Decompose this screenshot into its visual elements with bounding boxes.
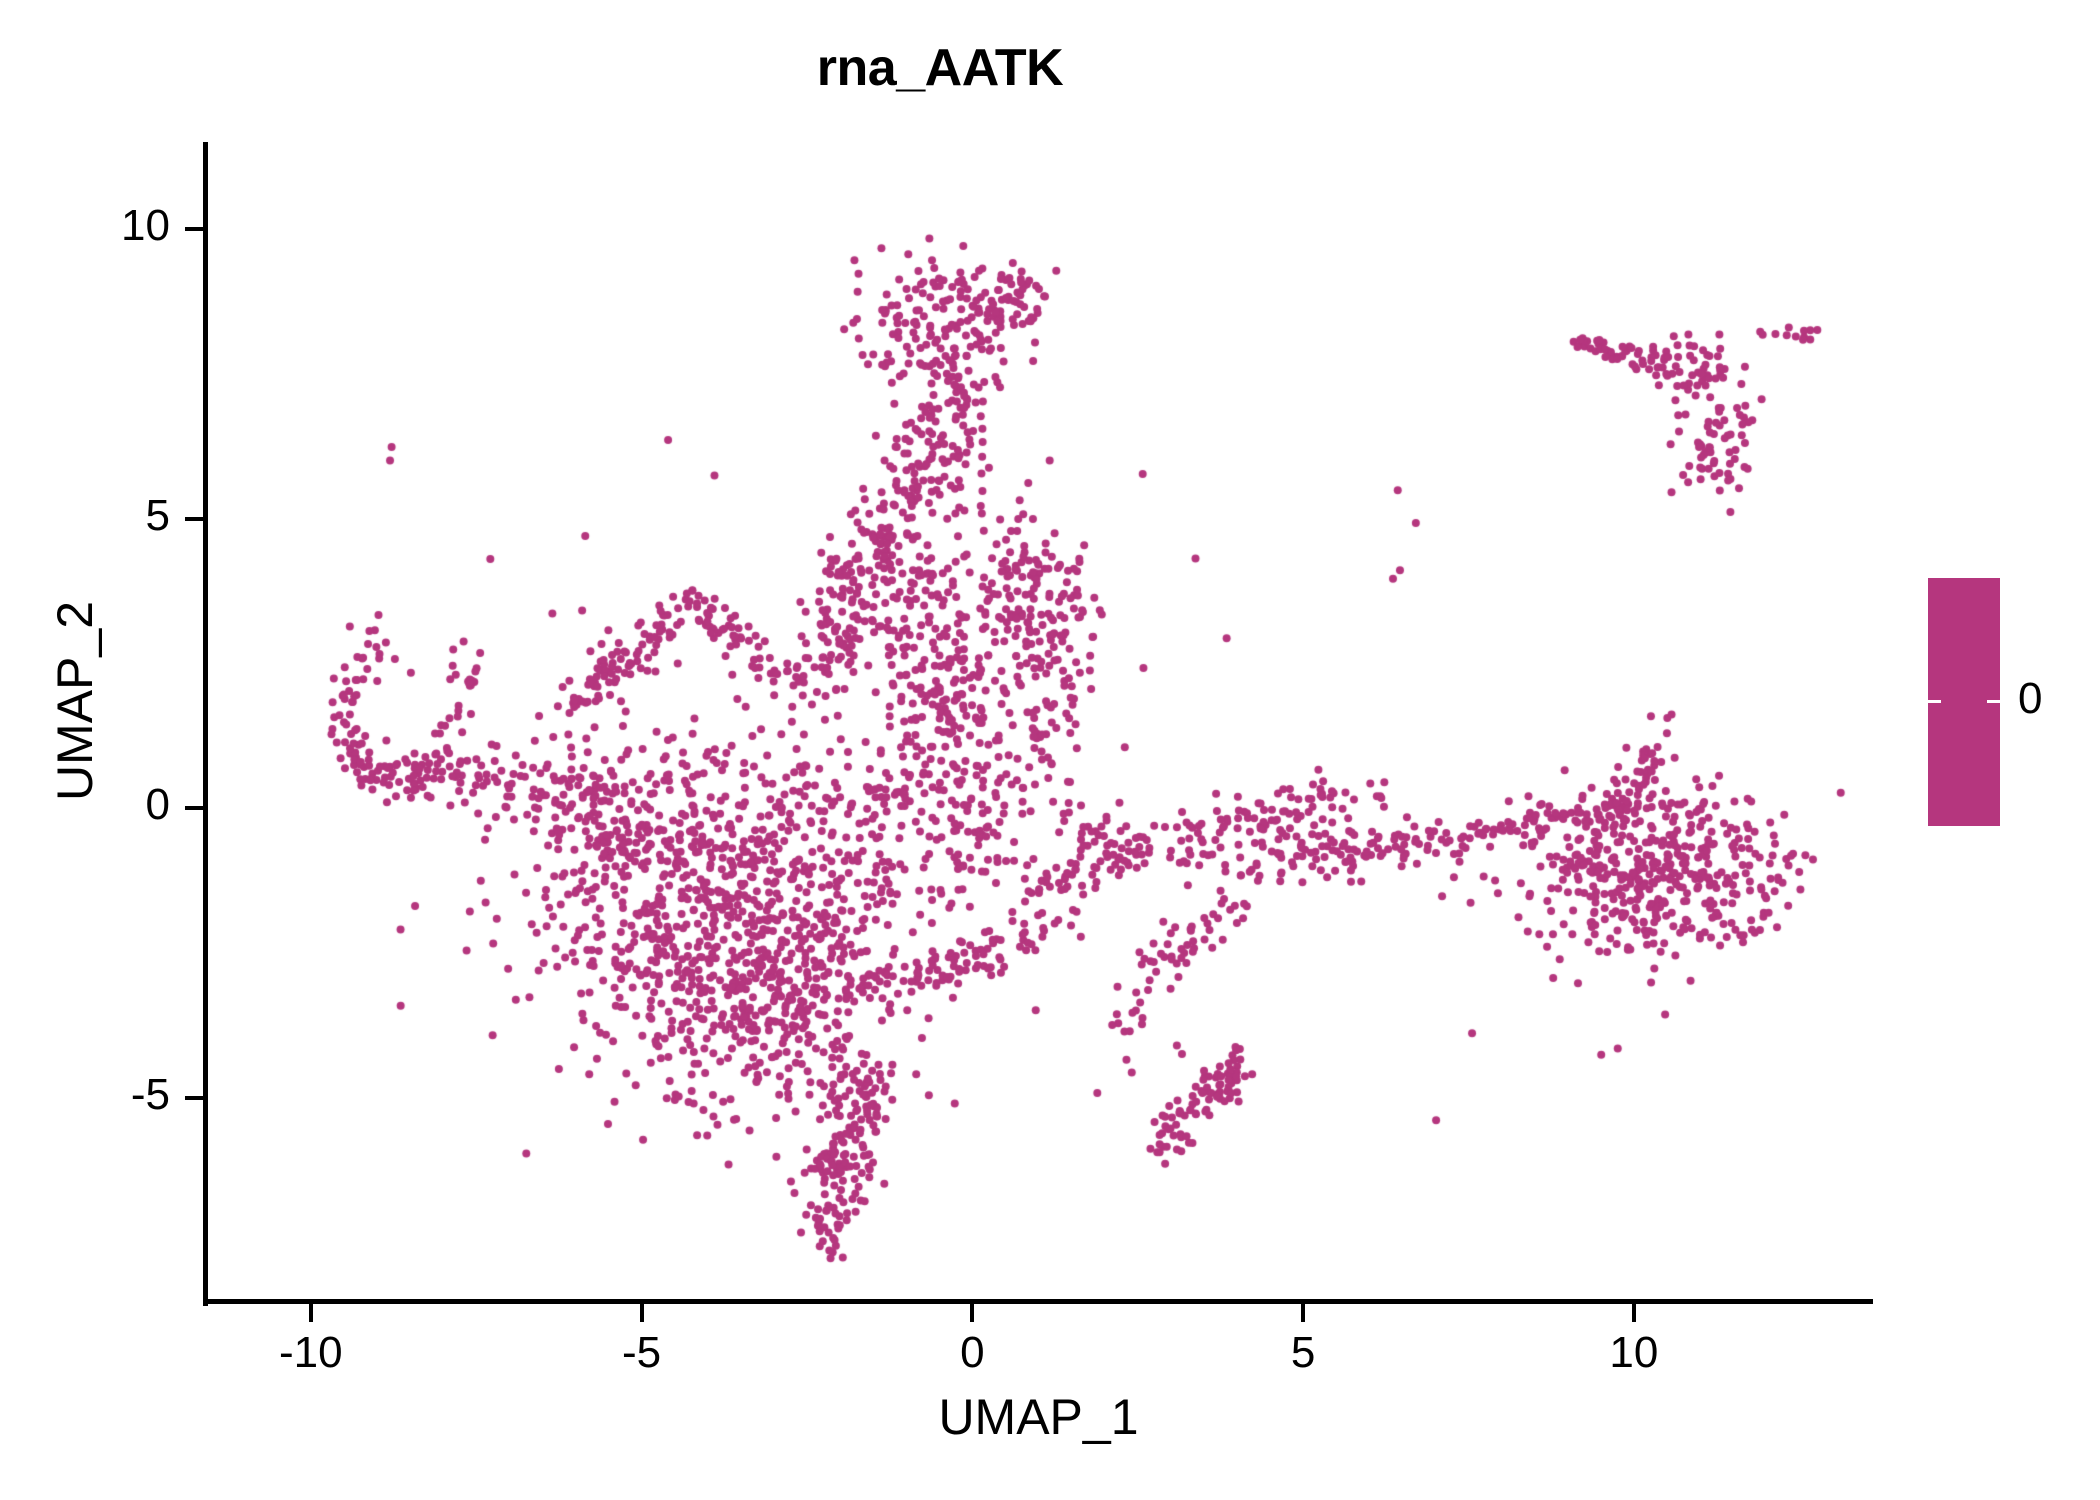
y-tick-label: 10 xyxy=(0,201,170,251)
x-tick-mark xyxy=(970,1303,974,1322)
umap-feature-plot: rna_AATK 10 5 0 -5 -10 -5 0 5 10 UMAP_1 … xyxy=(0,0,2100,1500)
x-tick-mark xyxy=(1632,1303,1636,1322)
x-tick-label: 10 xyxy=(1554,1328,1714,1378)
y-axis-title: UMAP_2 xyxy=(46,351,104,1051)
y-tick-label: -5 xyxy=(0,1070,170,1120)
plot-panel xyxy=(205,142,1872,1301)
y-tick-mark xyxy=(185,806,204,810)
y-tick-mark xyxy=(185,227,204,231)
x-tick-mark xyxy=(1301,1303,1305,1322)
page-title: rna_AATK xyxy=(0,38,1880,98)
x-tick-mark xyxy=(640,1303,644,1322)
scatter-points-layer xyxy=(205,142,1872,1301)
colorbar-tick-mark xyxy=(1928,700,1941,703)
x-tick-label: 5 xyxy=(1223,1328,1383,1378)
x-tick-label: -10 xyxy=(231,1328,391,1378)
y-axis-line xyxy=(203,142,208,1306)
colorbar-tick-label: 0 xyxy=(2018,674,2042,724)
colorbar-tick-mark xyxy=(1987,700,2000,703)
y-tick-mark xyxy=(185,1096,204,1100)
x-tick-label: -5 xyxy=(562,1328,722,1378)
x-tick-label: 0 xyxy=(892,1328,1052,1378)
x-axis-line xyxy=(203,1299,1873,1304)
colorbar-legend: 0 xyxy=(1928,578,2088,898)
x-tick-mark xyxy=(309,1303,313,1322)
y-tick-mark xyxy=(185,517,204,521)
x-axis-title: UMAP_1 xyxy=(205,1388,1872,1446)
